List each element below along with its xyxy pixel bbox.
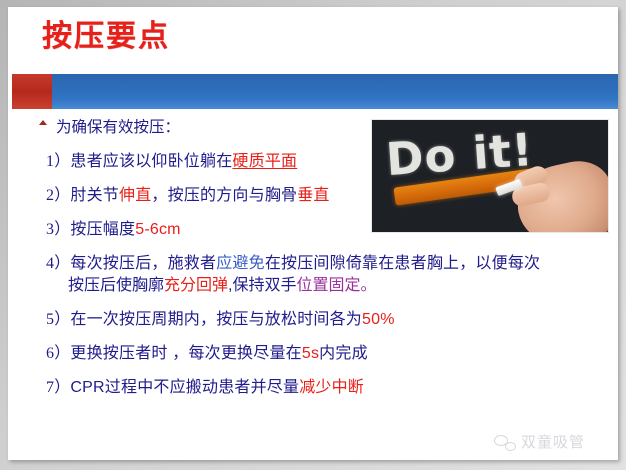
item-text-2d: 垂直 — [297, 187, 329, 204]
header-bar-blue-strip — [52, 74, 618, 109]
item-number-7: 7） — [46, 379, 70, 396]
item-text-2b: 伸直 — [119, 187, 151, 204]
item-text-4c: 在按压间隙倚靠在患者胸上，以便每次 — [265, 255, 540, 272]
list-item-4-line2: 按压后使胸廓充分回弹,保持双手位置固定。 — [68, 271, 377, 295]
item-text-7b: 减少中断 — [299, 379, 364, 396]
list-item-2: 2）肘关节伸直，按压的方向与胸骨垂直 — [46, 181, 330, 205]
item-text-1b: 硬质平面 — [232, 153, 297, 170]
item-text-4g: 位置固定。 — [296, 277, 376, 294]
presentation-slide: 按压要点 为确保有效按压： 1）患者应该以仰卧位躺在硬质平面 2）肘关节伸直，按… — [8, 7, 618, 460]
slide-frame: 按压要点 为确保有效按压： 1）患者应该以仰卧位躺在硬质平面 2）肘关节伸直，按… — [0, 0, 626, 470]
item-text-4e: 充分回弹 — [164, 277, 228, 294]
item-number-5: 5） — [46, 311, 70, 328]
item-text-4a: 每次按压后，施救者 — [70, 255, 216, 272]
item-text-6c: 内完成 — [319, 345, 368, 362]
item-text-1a: 患者应该以仰卧位躺在 — [70, 153, 232, 170]
item-number-1: 1） — [46, 153, 70, 170]
item-text-5a: 在一次按压周期内，按压与放松时间各为 — [70, 311, 362, 328]
item-number-6: 6） — [46, 345, 70, 362]
wechat-icon — [494, 433, 516, 451]
watermark-text: 双童吸管 — [521, 431, 585, 452]
list-item-3: 3）按压幅度5-6cm — [46, 215, 181, 239]
triangle-bullet-icon — [39, 120, 47, 125]
item-text-4b: 应避免 — [216, 255, 265, 272]
lead-line: 为确保有效按压： — [56, 115, 180, 137]
item-text-2a: 肘关节 — [70, 187, 119, 204]
wechat-bubble-small — [505, 442, 516, 451]
item-text-7a: CPR过程中不应搬动患者并尽量 — [70, 379, 299, 396]
list-item-6: 6）更换按压者时 ，每次更换尽量在5s内完成 — [46, 339, 368, 363]
item-number-4: 4） — [46, 255, 70, 272]
item-text-4f: ,保持双手 — [228, 277, 296, 294]
header-bar-red-block — [12, 74, 52, 109]
item-number-3: 3） — [46, 221, 70, 238]
header-bar — [12, 74, 618, 109]
list-item-5: 5）在一次按压周期内，按压与放松时间各为50% — [46, 305, 395, 329]
item-text-3a: 按压幅度 — [70, 221, 135, 238]
list-item-7: 7）CPR过程中不应搬动患者并尽量减少中断 — [46, 373, 364, 397]
item-text-5b: 50% — [362, 311, 395, 328]
item-text-6b: 5s — [302, 345, 319, 362]
list-item-4: 4）每次按压后，施救者应避免在按压间隙倚靠在患者胸上，以便每次 — [46, 249, 540, 273]
title-area: 按压要点 — [8, 7, 618, 72]
item-text-3b: 5-6cm — [135, 221, 180, 238]
item-text-2c: ，按压的方向与胸骨 — [151, 187, 297, 204]
watermark: 双童吸管 — [494, 431, 585, 452]
item-text-6a: 更换按压者时 ，每次更换尽量在 — [70, 345, 301, 362]
list-item-1: 1）患者应该以仰卧位躺在硬质平面 — [46, 147, 297, 171]
item-text-4d: 按压后使胸廓 — [68, 277, 164, 294]
item-number-2: 2） — [46, 187, 70, 204]
page-title: 按压要点 — [42, 22, 170, 52]
chalkboard-photo: Do it! — [371, 119, 609, 233]
